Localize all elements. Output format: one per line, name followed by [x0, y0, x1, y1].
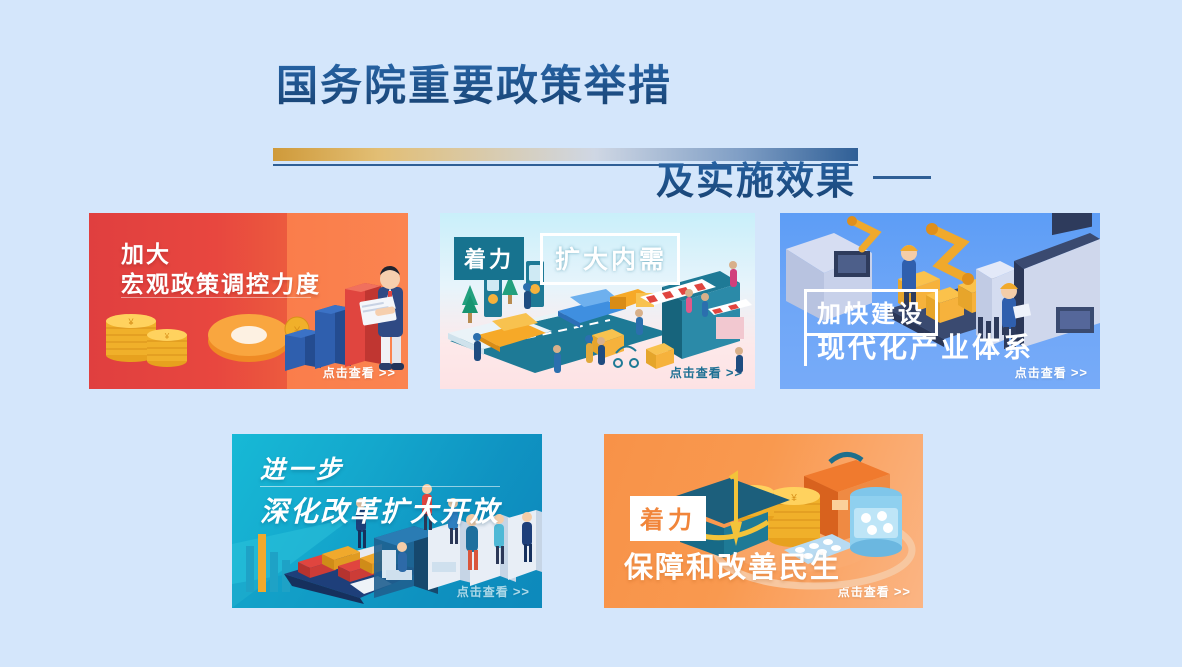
- card-macro-policy[interactable]: ¥ ¥ ¥: [89, 213, 408, 389]
- card3-cta[interactable]: 点击查看>>: [1015, 364, 1088, 381]
- card1-divider: [121, 297, 311, 298]
- card5-cta-arrows-icon: >>: [894, 584, 911, 599]
- card2-title-line2: 扩大内需: [540, 233, 680, 285]
- card4-title-line1: 进一步: [260, 450, 344, 486]
- card1-cta-arrows-icon: >>: [379, 365, 396, 380]
- svg-text:¥: ¥: [790, 493, 797, 504]
- svg-text:¥: ¥: [293, 325, 301, 337]
- card4-title-line2: 深化改革扩大开放: [260, 490, 500, 530]
- card5-badge: 着力: [630, 496, 706, 541]
- card-safeguard-improve-livelihood[interactable]: ¥ ¥: [604, 434, 923, 608]
- card2-cta[interactable]: 点击查看>>: [670, 364, 743, 381]
- page-root: 国务院重要政策举措 及实施效果 ¥: [0, 0, 1182, 667]
- svg-text:¥: ¥: [164, 332, 170, 341]
- card4-cta[interactable]: 点击查看>>: [457, 583, 530, 600]
- card3-title-line2: 现代化产业体系: [804, 326, 1034, 366]
- card4-cta-label: 点击查看: [457, 585, 509, 599]
- page-title-line2: 及实施效果: [656, 150, 856, 205]
- card4-cta-arrows-icon: >>: [513, 584, 530, 599]
- card2-cta-arrows-icon: >>: [726, 365, 743, 380]
- card5-title-line2: 保障和改善民生: [624, 544, 841, 586]
- card2-badge: 着力: [454, 237, 524, 280]
- svg-text:¥: ¥: [751, 489, 757, 498]
- card2-cta-label: 点击查看: [670, 366, 722, 380]
- svg-text:¥: ¥: [127, 317, 134, 327]
- title-dash-decoration: [873, 176, 931, 179]
- page-title-block: 国务院重要政策举措 及实施效果: [0, 52, 1182, 152]
- card-modern-industrial-system[interactable]: 加快建设 现代化产业体系 点击查看>>: [780, 213, 1100, 389]
- card-deepen-reform-opening-up[interactable]: 进一步 深化改革扩大开放 点击查看>>: [232, 434, 542, 608]
- card-expand-domestic-demand[interactable]: 着力 扩大内需 点击查看>>: [440, 213, 755, 389]
- card4-divider: [260, 486, 500, 487]
- card5-cta-label: 点击查看: [838, 585, 890, 599]
- card1-title-line2: 宏观政策调控力度: [121, 265, 321, 299]
- card1-cta[interactable]: 点击查看>>: [323, 364, 396, 381]
- card3-cta-arrows-icon: >>: [1071, 365, 1088, 380]
- page-title-line1: 国务院重要政策举措: [276, 52, 672, 113]
- card3-cta-label: 点击查看: [1015, 366, 1067, 380]
- card5-cta[interactable]: 点击查看>>: [838, 583, 911, 600]
- card1-title-line1: 加大: [121, 235, 171, 269]
- card1-cta-label: 点击查看: [323, 366, 375, 380]
